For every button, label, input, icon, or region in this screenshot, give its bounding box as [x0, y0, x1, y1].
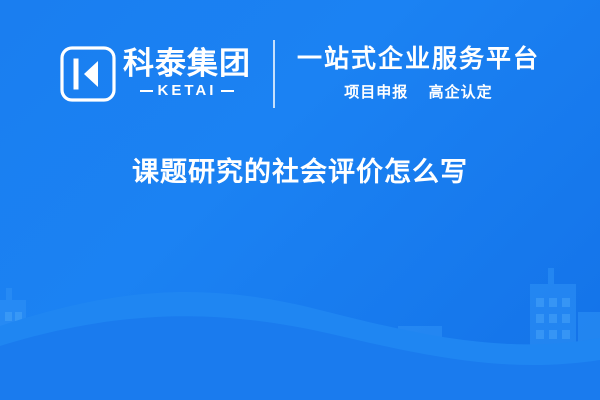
dash-left [140, 90, 153, 92]
dash-right [221, 90, 234, 92]
slogan-main: 一站式企业服务平台 [297, 41, 540, 79]
slogan-sub-left: 项目申报 [344, 84, 408, 101]
slogan-sub-right: 高企认定 [429, 84, 493, 101]
ketai-kt-monogram-icon [60, 46, 116, 102]
slogan-sub: 项目申报 高企认定 [344, 79, 492, 108]
logo-company-cn: 科泰集团 [123, 47, 251, 80]
logo-wordmark: 科泰集团 KETAI [123, 47, 251, 101]
city-skyline-silhouette [0, 180, 600, 400]
banner-header: 科泰集团 KETAI 一站式企业服务平台 项目申报 高企认定 [0, 28, 600, 120]
promo-banner: 科泰集团 KETAI 一站式企业服务平台 项目申报 高企认定 课题研究的社会评价… [0, 0, 600, 400]
bottom-wave-shape [0, 280, 600, 400]
logo-company-en: KETAI [140, 81, 235, 101]
company-logo: 科泰集团 KETAI [60, 46, 273, 102]
page-title: 课题研究的社会评价怎么写 [0, 152, 600, 193]
logo-company-en-text: KETAI [158, 81, 217, 101]
slogan-block: 一站式企业服务平台 项目申报 高企认定 [275, 41, 540, 107]
